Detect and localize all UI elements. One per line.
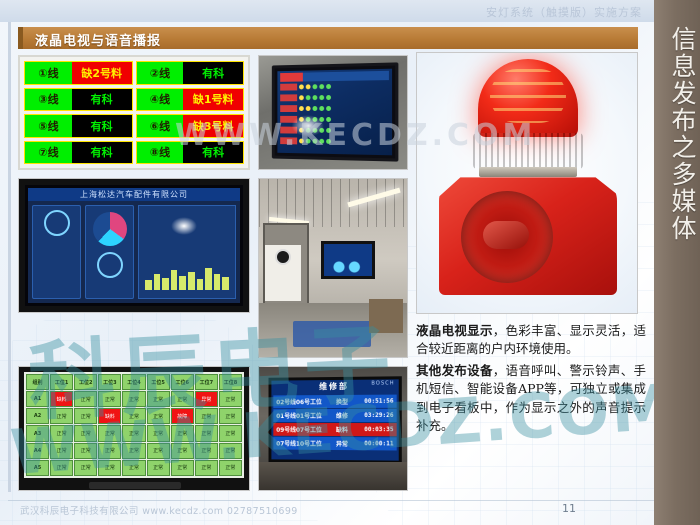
page-number: 11 (562, 502, 576, 515)
dashboard-ring-icon (97, 252, 123, 278)
led-grid: ①线 缺2号料 ②线 有科 ③线 有科 ④线 缺1号料 ⑤线 有科 ⑥线 缺3号… (24, 61, 244, 164)
led-line-board: ①线 缺2号料 ②线 有科 ③线 有科 ④线 缺1号料 ⑤线 有科 ⑥线 缺3号… (18, 55, 250, 170)
matrix-cell: 正常 (74, 408, 97, 424)
tv-dot-icon (306, 106, 311, 111)
matrix-monitor-stand (89, 482, 181, 489)
matrix-cell: 正常 (98, 391, 121, 407)
led-status: 有科 (72, 89, 132, 111)
maintenance-timer: 00:00:11 (354, 440, 397, 447)
matrix-cell: 正常 (195, 425, 218, 441)
matrix-cell: 正常 (219, 460, 242, 476)
tv-dot-icon (326, 106, 331, 111)
maintenance-row: 01号线01号工位 维修 03:29:26 (273, 409, 396, 422)
paragraph1-bold: 液晶电视显示 (416, 323, 493, 338)
led-row: ③线 有科 (24, 88, 133, 112)
tv-screen-glare (291, 115, 324, 137)
led-row: ④线 缺1号料 (136, 88, 245, 112)
bosch-brand-label: BOSCH (371, 380, 394, 386)
led-row: ⑦线 有科 (24, 141, 133, 165)
matrix-cell: 正常 (50, 460, 73, 476)
tv-dot-icon (299, 95, 304, 100)
maintenance-type: 缺料 (330, 425, 354, 434)
led-line-label: ⑦线 (25, 142, 72, 164)
tv-dot-icon (306, 95, 311, 100)
banner-label: 液晶电视与语音播报 (35, 30, 161, 49)
header-title: 安灯系统（触摸版）实施方案 (486, 4, 642, 20)
matrix-cell: 正常 (74, 460, 97, 476)
photo-maintenance-board: BOSCH 维修部 02号线06号工位 换型 00:51:56 01号线01号工… (258, 366, 408, 491)
tv-dot-icon (319, 84, 324, 89)
tv-dot-icon (319, 139, 324, 144)
led-row: ⑧线 有科 (136, 141, 245, 165)
matrix-cell: 异常 (195, 391, 218, 407)
led-status: 缺2号料 (72, 62, 132, 84)
matrix-row-label: A5 (26, 460, 49, 476)
photo-wall-mounted-tv (258, 55, 408, 170)
dashboard-bar-chart (145, 264, 229, 290)
dashboard-ring-icon (44, 210, 70, 236)
tv-dot-icon (306, 139, 311, 144)
matrix-cell: 正常 (195, 443, 218, 459)
matrix-row-label: A4 (26, 443, 49, 459)
tv-screen-row (280, 104, 389, 113)
matrix-cell: 正常 (122, 443, 145, 459)
led-line-label: ⑤线 (25, 115, 72, 137)
beacon-horn-driver (483, 221, 529, 249)
matrix-cell: 正常 (171, 425, 194, 441)
matrix-cell: 正常 (147, 391, 170, 407)
matrix-cell: 正常 (122, 425, 145, 441)
footer-company-info: 武汉科辰电子科技有限公司 www.kecdz.com 02787510699 (20, 503, 298, 517)
matrix-row-label: A1 (26, 391, 49, 407)
tv-dot-icon (326, 139, 331, 144)
tv-dot-icon (312, 139, 317, 144)
matrix-cell: 缺料 (98, 408, 121, 424)
paragraph2-bold: 其他发布设备 (416, 363, 493, 378)
wall-clock-icon (275, 249, 291, 265)
tv-dot-icon (319, 95, 324, 100)
led-status: 有科 (183, 142, 243, 164)
factory-wall-screen (321, 241, 375, 279)
tv-frame (272, 62, 399, 161)
matrix-grid: 组别 工位1 工位2 工位3 工位4 工位5 工位6 工位7 工位8 A1 缺料… (26, 374, 242, 476)
matrix-header-cell: 工位6 (171, 374, 194, 390)
description-text: 液晶电视显示，色彩丰富、显示灵活，适合较近距离的户内环境使用。 其他发布设备，语… (416, 322, 646, 439)
dashboard-gauge-icon (93, 212, 127, 246)
led-row: ⑥线 缺3号料 (136, 114, 245, 138)
matrix-cell: 正常 (122, 408, 145, 424)
maintenance-type: 换型 (330, 397, 354, 406)
led-line-label: ⑥线 (137, 115, 184, 137)
led-status: 缺1号料 (183, 89, 243, 111)
matrix-header-cell: 工位5 (147, 374, 170, 390)
tv-dot-icon (326, 84, 331, 89)
dashboard-layout (32, 205, 236, 299)
matrix-header-cell: 组别 (26, 374, 49, 390)
led-line-label: ①线 (25, 62, 72, 84)
tv-screen-row (280, 136, 389, 147)
maintenance-type: 异常 (330, 439, 354, 448)
maintenance-room-shelf (259, 462, 407, 490)
tv-dot-icon (319, 106, 324, 111)
tv-row-tag (280, 105, 297, 112)
matrix-cell: 正常 (219, 391, 242, 407)
led-status: 缺3号料 (183, 115, 243, 137)
matrix-cell: 正常 (122, 460, 145, 476)
matrix-cell: 正常 (74, 443, 97, 459)
maintenance-timer: 00:51:56 (354, 398, 397, 405)
matrix-cell: 正常 (50, 408, 73, 424)
matrix-cell: 正常 (147, 408, 170, 424)
beacon-mount-base (479, 167, 577, 177)
maintenance-station: 09号线07号工位 (273, 425, 330, 434)
slide-root: 安灯系统（触摸版）实施方案 液晶电视与语音播报 ①线 缺2号料 ②线 有科 ③线… (0, 0, 700, 525)
matrix-cell: 正常 (98, 443, 121, 459)
tv-screen-row (280, 81, 389, 91)
dashboard-card-video (32, 205, 81, 299)
led-row: ②线 有科 (136, 61, 245, 85)
matrix-row-label: A2 (26, 408, 49, 424)
tv-dot-icon (306, 84, 311, 89)
matrix-header-cell: 工位4 (122, 374, 145, 390)
beacon-ribbed-ring (473, 133, 583, 169)
matrix-cell: 正常 (195, 408, 218, 424)
matrix-cell: 正常 (219, 425, 242, 441)
sidebar-vertical-title: 信息发布之多媒体 (658, 26, 696, 242)
dashboard-screen-title: 上海松达汽车配件有限公司 (28, 188, 240, 201)
led-status: 有科 (72, 115, 132, 137)
tv-screen (277, 69, 392, 156)
led-line-label: ③线 (25, 89, 72, 111)
tv-screen-header (280, 71, 389, 82)
matrix-cell: 正常 (50, 443, 73, 459)
matrix-header-cell: 工位3 (98, 374, 121, 390)
right-sidebar: 信息发布之多媒体 (654, 0, 700, 525)
tv-dot-icon (312, 84, 317, 89)
led-line-label: ④线 (137, 89, 184, 111)
matrix-cell: 正常 (219, 443, 242, 459)
tv-dot-icon (299, 106, 304, 111)
led-row: ⑤线 有科 (24, 114, 133, 138)
matrix-cell: 正常 (122, 391, 145, 407)
tv-dot-icon (312, 95, 317, 100)
matrix-cell: 正常 (98, 460, 121, 476)
maintenance-station: 07号线10号工位 (273, 439, 330, 448)
led-line-label: ⑧线 (137, 142, 184, 164)
matrix-screen: 组别 工位1 工位2 工位3 工位4 工位5 工位6 工位7 工位8 A1 缺料… (24, 372, 244, 478)
maintenance-row: 07号线10号工位 异常 00:00:11 (273, 437, 396, 451)
tv-dot-icon (326, 128, 331, 133)
matrix-cell: 正常 (171, 443, 194, 459)
photo-dashboard-screen: 上海松达汽车配件有限公司 (18, 178, 250, 313)
matrix-cell: 正常 (50, 425, 73, 441)
maintenance-row: 09号线07号工位 缺料 00:03:35 (273, 423, 396, 436)
matrix-cell: 正常 (195, 460, 218, 476)
tv-row-tag (280, 94, 297, 101)
matrix-header-cell: 工位2 (74, 374, 97, 390)
maintenance-station: 02号线06号工位 (273, 397, 330, 406)
matrix-cell: 正常 (219, 408, 242, 424)
matrix-cell: 故障 (171, 408, 194, 424)
factory-carton (369, 299, 403, 333)
tv-dot-icon (326, 117, 331, 122)
photo-status-matrix-board: 组别 工位1 工位2 工位3 工位4 工位5 工位6 工位7 工位8 A1 缺料… (18, 366, 250, 491)
factory-workbench (293, 321, 371, 347)
matrix-cell: 正常 (147, 460, 170, 476)
matrix-cell: 正常 (74, 425, 97, 441)
section-banner: 液晶电视与语音播报 (18, 27, 638, 49)
tv-dot-icon (299, 84, 304, 89)
tv-row-tag (280, 137, 297, 144)
matrix-cell: 正常 (74, 391, 97, 407)
maintenance-type: 维修 (330, 411, 354, 420)
description-paragraph-2: 其他发布设备，语音呼叫、警示铃声、手机短信、智能设备APP等，可独立或集成到电子… (416, 362, 646, 435)
led-line-label: ②线 (137, 62, 184, 84)
dashboard-screen-glare (171, 217, 197, 235)
matrix-cell: 正常 (98, 425, 121, 441)
matrix-header-cell: 工位8 (219, 374, 242, 390)
matrix-header-cell: 工位1 (50, 374, 73, 390)
led-status: 有科 (72, 142, 132, 164)
photo-alarm-beacon (416, 52, 638, 314)
matrix-header-cell: 工位7 (195, 374, 218, 390)
left-rule (8, 22, 11, 492)
description-paragraph-1: 液晶电视显示，色彩丰富、显示灵活，适合较近距离的户内环境使用。 (416, 322, 646, 358)
matrix-row-label: A3 (26, 425, 49, 441)
led-row: ①线 缺2号料 (24, 61, 133, 85)
tv-dot-icon (312, 106, 317, 111)
matrix-cell: 正常 (171, 391, 194, 407)
tv-screen-row (280, 92, 389, 102)
tv-dot-icon (326, 95, 331, 100)
dashboard-card-gauge (85, 205, 134, 299)
maintenance-timer: 00:03:35 (354, 426, 397, 433)
footer-divider (8, 500, 654, 501)
matrix-cell: 正常 (147, 443, 170, 459)
maintenance-row: 02号线06号工位 换型 00:51:56 (273, 395, 396, 409)
matrix-cell: 缺料 (50, 391, 73, 407)
matrix-cell: 正常 (171, 460, 194, 476)
maintenance-timer: 03:29:26 (354, 412, 397, 419)
tv-dot-icon (299, 139, 304, 144)
maintenance-screen: BOSCH 维修部 02号线06号工位 换型 00:51:56 01号线01号工… (269, 376, 402, 464)
dashboard-bezel: 上海松达汽车配件有限公司 (25, 185, 243, 306)
photo-factory-interior (258, 178, 408, 358)
matrix-cell: 正常 (147, 425, 170, 441)
tv-row-tag (280, 84, 297, 91)
maintenance-station: 01号线01号工位 (273, 411, 330, 420)
led-status: 有科 (183, 62, 243, 84)
